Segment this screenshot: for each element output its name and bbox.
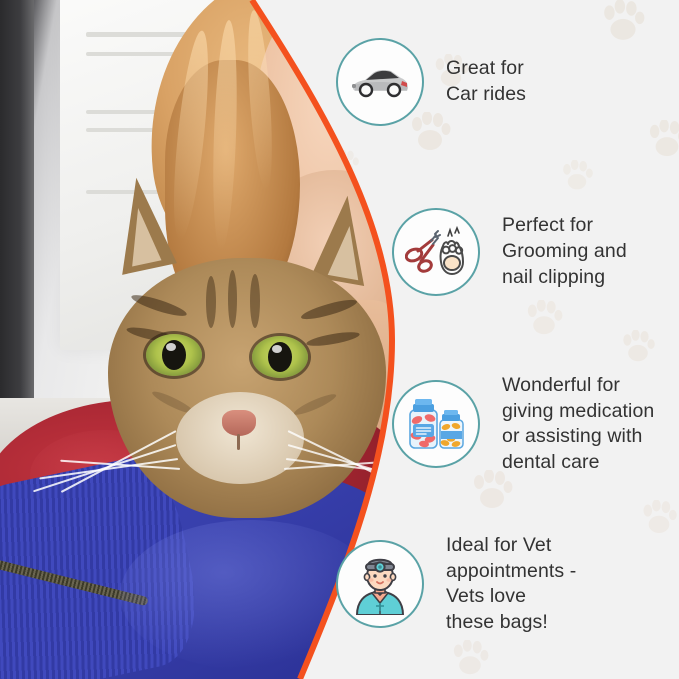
feature-item-medication[interactable]: Wonderful for giving medication or assis… [392,373,654,476]
feature-item-grooming[interactable]: Perfect for Grooming and nail clipping [392,208,627,296]
veterinarian-icon [350,553,410,615]
car-icon [349,64,411,100]
feature-icon-circle [336,38,424,126]
feature-list: Great for Car rides [0,0,679,679]
feature-item-car-rides[interactable]: Great for Car rides [336,38,526,126]
feature-item-vet[interactable]: Ideal for Vet appointments - Vets love t… [336,533,576,636]
feature-text: Ideal for Vet appointments - Vets love t… [446,533,576,636]
pill-bottles-icon [404,396,468,452]
promo-image: Great for Car rides [0,0,679,679]
feature-text: Wonderful for giving medication or assis… [502,373,654,476]
feature-icon-circle [336,540,424,628]
feature-icon-circle [392,380,480,468]
nail-clipper-paw-icon [405,224,467,280]
feature-text: Great for Car rides [446,56,526,107]
feature-icon-circle [392,208,480,296]
feature-text: Perfect for Grooming and nail clipping [502,213,627,290]
